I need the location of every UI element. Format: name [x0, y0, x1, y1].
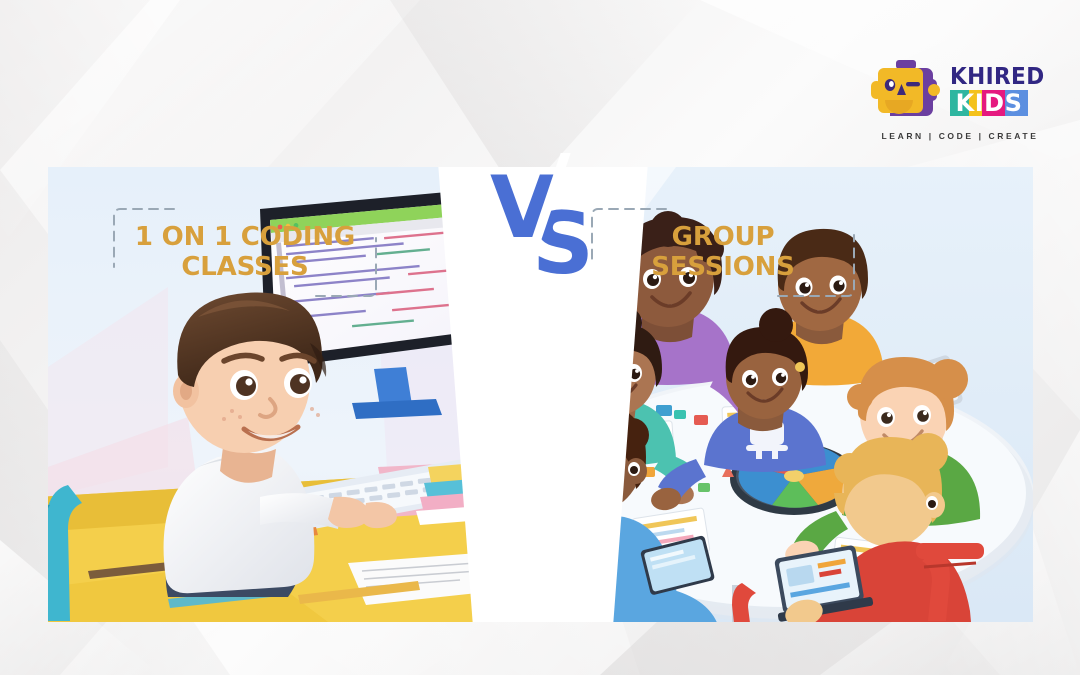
- brand-name-secondary: KIDS: [950, 90, 1028, 116]
- vs-letter-s: S: [532, 194, 594, 293]
- right-panel-title: GROUP SESSIONS: [588, 205, 858, 300]
- right-title-line1: GROUP: [672, 223, 775, 252]
- left-title-line2: CLASSES: [181, 253, 308, 282]
- brand-tagline: LEARN | CODE | CREATE: [882, 131, 1039, 141]
- logo-row: KHIRED KIDS: [870, 58, 1051, 124]
- right-title-line2: SESSIONS: [651, 253, 794, 282]
- left-panel-title: 1 ON 1 CODING CLASSES: [110, 205, 380, 300]
- left-title-text: 1 ON 1 CODING CLASSES: [110, 205, 380, 300]
- brand-name-primary: KHIRED: [950, 66, 1045, 89]
- svg-text:KIDS: KIDS: [955, 90, 1022, 116]
- logo-wordmark: KHIRED KIDS: [950, 66, 1051, 116]
- left-title-line1: 1 ON 1 CODING: [135, 223, 355, 252]
- vs-divider-badge: V S: [476, 153, 612, 293]
- right-title-text: GROUP SESSIONS: [588, 205, 858, 300]
- robot-mascot-icon: [870, 59, 944, 123]
- brand-logo[interactable]: KHIRED KIDS LEARN | CODE | CREATE: [874, 58, 1046, 146]
